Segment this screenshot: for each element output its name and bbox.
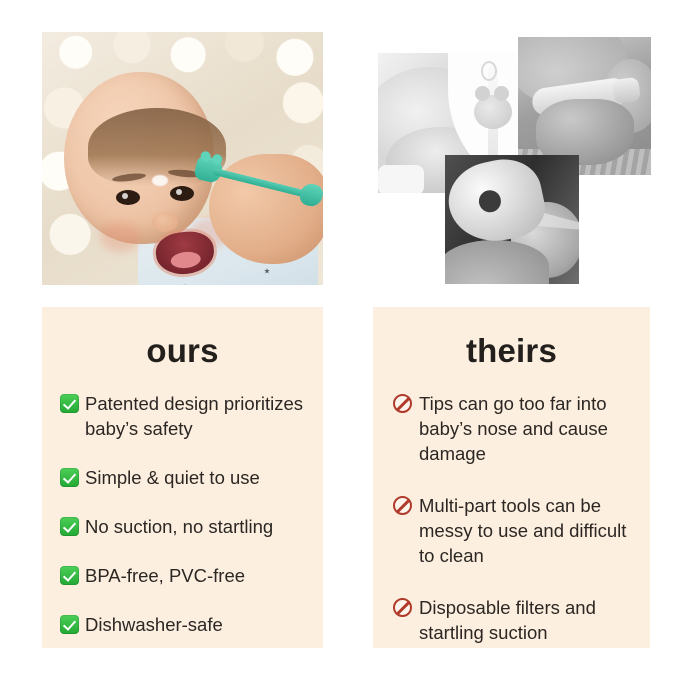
list-item: BPA-free, PVC-free xyxy=(60,563,312,588)
check-icon xyxy=(60,566,79,585)
ours-benefit-list: Patented design prioritizes baby’s safet… xyxy=(60,391,312,637)
list-item: Multi-part tools can be messy to use and… xyxy=(393,493,641,568)
ours-title: ours xyxy=(42,332,323,370)
list-item: Patented design prioritizes baby’s safet… xyxy=(60,391,312,441)
list-item-label: Patented design prioritizes baby’s safet… xyxy=(85,391,312,441)
prohibition-icon xyxy=(393,598,412,617)
competitor-collage xyxy=(373,30,656,288)
check-icon xyxy=(60,394,79,413)
prohibition-icon xyxy=(393,496,412,515)
check-icon xyxy=(60,517,79,536)
theirs-title: theirs xyxy=(373,332,650,370)
nose-highlight xyxy=(152,175,168,186)
list-item: Dishwasher-safe xyxy=(60,612,312,637)
list-item-label: Tips can go too far into baby’s nose and… xyxy=(419,391,641,466)
list-item-label: BPA-free, PVC-free xyxy=(85,563,312,588)
check-icon xyxy=(60,468,79,487)
list-item-label: Dishwasher-safe xyxy=(85,612,312,637)
check-icon xyxy=(60,615,79,634)
list-item: Disposable filters and startling suction xyxy=(393,595,641,645)
prohibition-icon xyxy=(393,394,412,413)
comparison-infographic: ours Patented design prioritizes baby’s … xyxy=(0,0,679,679)
list-item: No suction, no startling xyxy=(60,514,312,539)
ours-panel: ours Patented design prioritizes baby’s … xyxy=(42,307,323,648)
hero-product-photo xyxy=(42,32,323,285)
list-item-label: Disposable filters and startling suction xyxy=(419,595,641,645)
theirs-drawback-list: Tips can go too far into baby’s nose and… xyxy=(393,391,641,645)
list-item-label: Simple & quiet to use xyxy=(85,465,312,490)
list-item-label: Multi-part tools can be messy to use and… xyxy=(419,493,641,568)
list-item-label: No suction, no startling xyxy=(85,514,312,539)
baby-face xyxy=(64,72,214,244)
list-item: Tips can go too far into baby’s nose and… xyxy=(393,391,641,466)
competitor-bulb-syringe-photo xyxy=(445,155,579,284)
theirs-panel: theirs Tips can go too far into baby’s n… xyxy=(373,307,650,648)
list-item: Simple & quiet to use xyxy=(60,465,312,490)
